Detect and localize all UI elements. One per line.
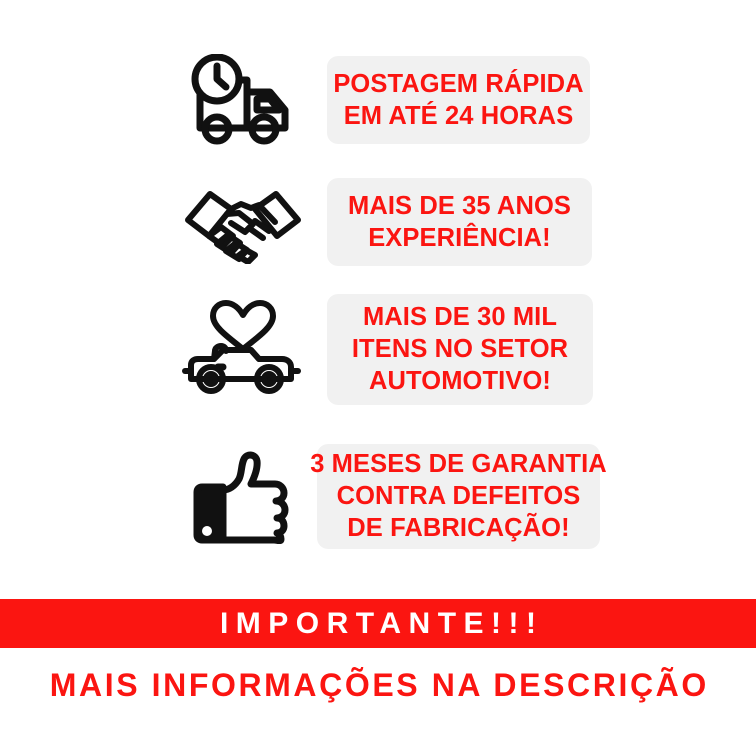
- benefit-label-line: AUTOMOTIVO!: [369, 365, 551, 397]
- benefit-label-experience: MAIS DE 35 ANOS EXPERIÊNCIA!: [327, 178, 592, 266]
- benefit-row-shipping: POSTAGEM RÁPIDA EM ATÉ 24 HORAS: [0, 40, 756, 160]
- thumbs-up-icon: [165, 448, 320, 544]
- benefit-row-experience: MAIS DE 35 ANOS EXPERIÊNCIA!: [0, 172, 756, 272]
- benefit-label-line: POSTAGEM RÁPIDA: [333, 68, 583, 100]
- benefit-label-line: CONTRA DEFEITOS: [337, 480, 581, 512]
- benefit-label-items: MAIS DE 30 MIL ITENS NO SETOR AUTOMOTIVO…: [327, 294, 593, 405]
- benefit-row-items: MAIS DE 30 MIL ITENS NO SETOR AUTOMOTIVO…: [0, 290, 756, 408]
- benefit-label-line: MAIS DE 30 MIL: [363, 301, 557, 333]
- benefit-label-line: EXPERIÊNCIA!: [368, 222, 551, 254]
- important-banner-label: IMPORTANTE!!!: [212, 607, 543, 641]
- benefit-label-line: EM ATÉ 24 HORAS: [344, 100, 574, 132]
- benefit-label-line: 3 MESES DE GARANTIA: [310, 448, 607, 480]
- description-note: MAIS INFORMAÇÕES NA DESCRIÇÃO: [0, 655, 756, 715]
- benefit-row-warranty: 3 MESES DE GARANTIA CONTRA DEFEITOS DE F…: [0, 440, 756, 552]
- description-note-label: MAIS INFORMAÇÕES NA DESCRIÇÃO: [47, 667, 709, 704]
- handshake-icon: [165, 180, 320, 264]
- benefit-label-line: DE FABRICAÇÃO!: [347, 512, 569, 544]
- delivery-truck-clock-icon: [165, 54, 320, 146]
- benefit-label-shipping: POSTAGEM RÁPIDA EM ATÉ 24 HORAS: [327, 56, 590, 144]
- benefit-label-line: ITENS NO SETOR: [352, 333, 568, 365]
- benefit-label-warranty: 3 MESES DE GARANTIA CONTRA DEFEITOS DE F…: [317, 444, 600, 549]
- benefits-list: POSTAGEM RÁPIDA EM ATÉ 24 HORAS: [0, 0, 756, 590]
- important-banner: IMPORTANTE!!!: [0, 599, 756, 648]
- benefit-label-line: MAIS DE 35 ANOS: [348, 190, 571, 222]
- car-heart-icon: [165, 299, 320, 399]
